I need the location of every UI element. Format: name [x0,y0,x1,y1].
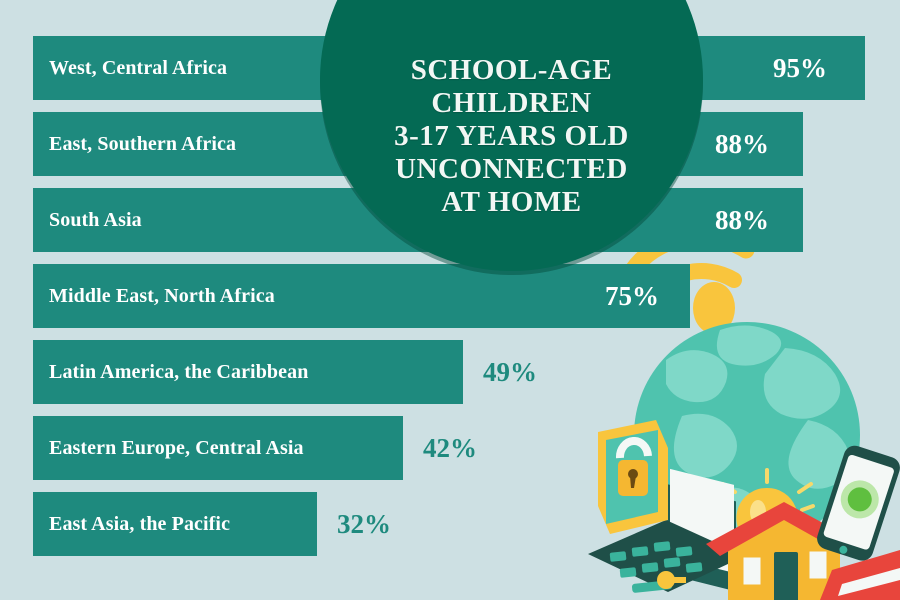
title-line-1: SCHOOL-AGE [394,54,629,87]
bar-category-label: Eastern Europe, Central Asia [49,416,304,480]
title-line-2: CHILDREN [394,87,629,120]
title-line-5: AT HOME [394,186,629,219]
bar-category-label: South Asia [49,188,142,252]
bar-value-label: 49% [483,340,537,404]
bar-value-label: 75% [605,264,659,328]
bar-category-label: West, Central Africa [49,36,227,100]
bar-category-label: Middle East, North Africa [49,264,275,328]
bar-value-label: 95% [773,36,827,100]
bar-value-label: 42% [423,416,477,480]
bar-value-label: 32% [337,492,391,556]
bar-category-label: East Asia, the Pacific [49,492,230,556]
infographic-canvas: West, Central Africa 95% East, Southern … [0,0,900,600]
bar-category-label: East, Southern Africa [49,112,236,176]
title-line-4: UNCONNECTED [394,153,629,186]
bar-value-label: 88% [715,188,769,252]
title-line-3: 3-17 YEARS OLD [394,120,629,153]
title-circle: SCHOOL-AGE CHILDREN 3-17 YEARS OLD UNCON… [320,0,703,271]
bar-value-label: 88% [715,112,769,176]
title-text: SCHOOL-AGE CHILDREN 3-17 YEARS OLD UNCON… [368,54,655,271]
bar-category-label: Latin America, the Caribbean [49,340,308,404]
